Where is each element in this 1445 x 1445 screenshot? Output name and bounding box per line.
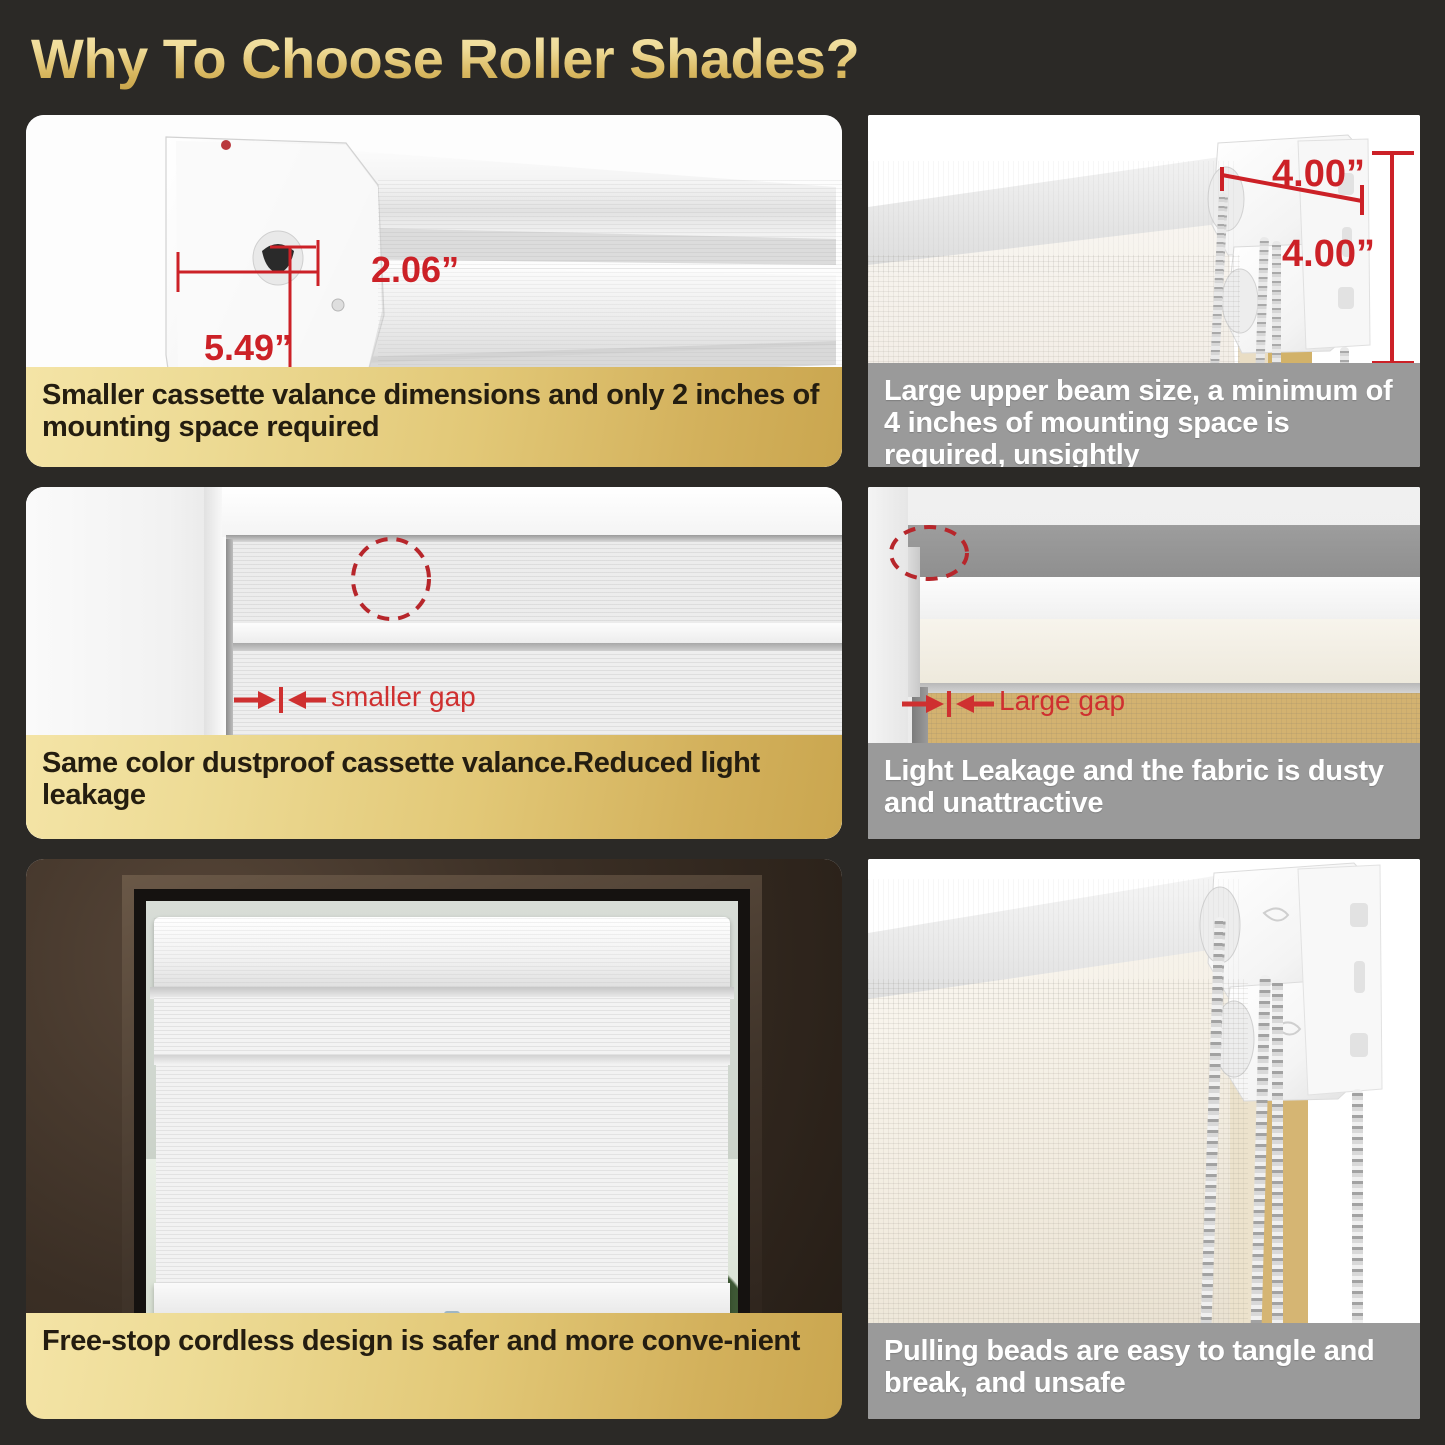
- caption-large-upper-beam: Large upper beam size, a minimum of 4 in…: [868, 363, 1420, 467]
- caption-text: Light Leakage and the fabric is dusty an…: [884, 756, 1404, 820]
- annotation-width-2-06: 2.06”: [371, 249, 459, 291]
- highlight-circle: [346, 533, 436, 625]
- caption-free-stop-cordless: Free-stop cordless design is safer and m…: [26, 1313, 842, 1419]
- panel-dustproof-cassette: smaller gap Same color dustproof cassett…: [26, 487, 842, 839]
- annotation-height-4-00: 4.00”: [1282, 233, 1375, 276]
- annotation-height-5-49: 5.49”: [204, 327, 292, 369]
- caption-dustproof-cassette: Same color dustproof cassette valance.Re…: [26, 735, 842, 839]
- panel-cassette-dimensions: 2.06” 5.49” Smaller cassette valance dim…: [26, 115, 842, 467]
- caption-light-leakage: Light Leakage and the fabric is dusty an…: [868, 743, 1420, 839]
- gap-arrows: [900, 687, 996, 721]
- annotation-smaller-gap: smaller gap: [331, 681, 476, 713]
- caption-text: Large upper beam size, a minimum of 4 in…: [884, 376, 1404, 467]
- header-bar: Why To Choose Roller Shades?: [0, 0, 1445, 112]
- caption-text: Free-stop cordless design is safer and m…: [42, 1326, 800, 1358]
- caption-text: Same color dustproof cassette valance.Re…: [42, 748, 826, 812]
- caption-cassette-dimensions: Smaller cassette valance dimensions and …: [26, 367, 842, 467]
- panel-large-upper-beam: 4.00” 4.00” Large upper beam size, a min…: [868, 115, 1420, 467]
- caption-text: Pulling beads are easy to tangle and bre…: [884, 1336, 1404, 1400]
- gap-arrows: [232, 683, 328, 717]
- panel-light-leakage: Large gap Light Leakage and the fabric i…: [868, 487, 1420, 839]
- highlight-circle: [884, 523, 974, 585]
- panel-free-stop-cordless: Free-stop cordless design is safer and m…: [26, 859, 842, 1419]
- panel-pulling-beads: Pulling beads are easy to tangle and bre…: [868, 859, 1420, 1419]
- caption-pulling-beads: Pulling beads are easy to tangle and bre…: [868, 1323, 1420, 1419]
- annotation-width-4-00-top: 4.00”: [1272, 153, 1365, 196]
- caption-text: Smaller cassette valance dimensions and …: [42, 380, 826, 444]
- page-title: Why To Choose Roller Shades?: [31, 26, 859, 91]
- annotation-large-gap: Large gap: [999, 685, 1125, 717]
